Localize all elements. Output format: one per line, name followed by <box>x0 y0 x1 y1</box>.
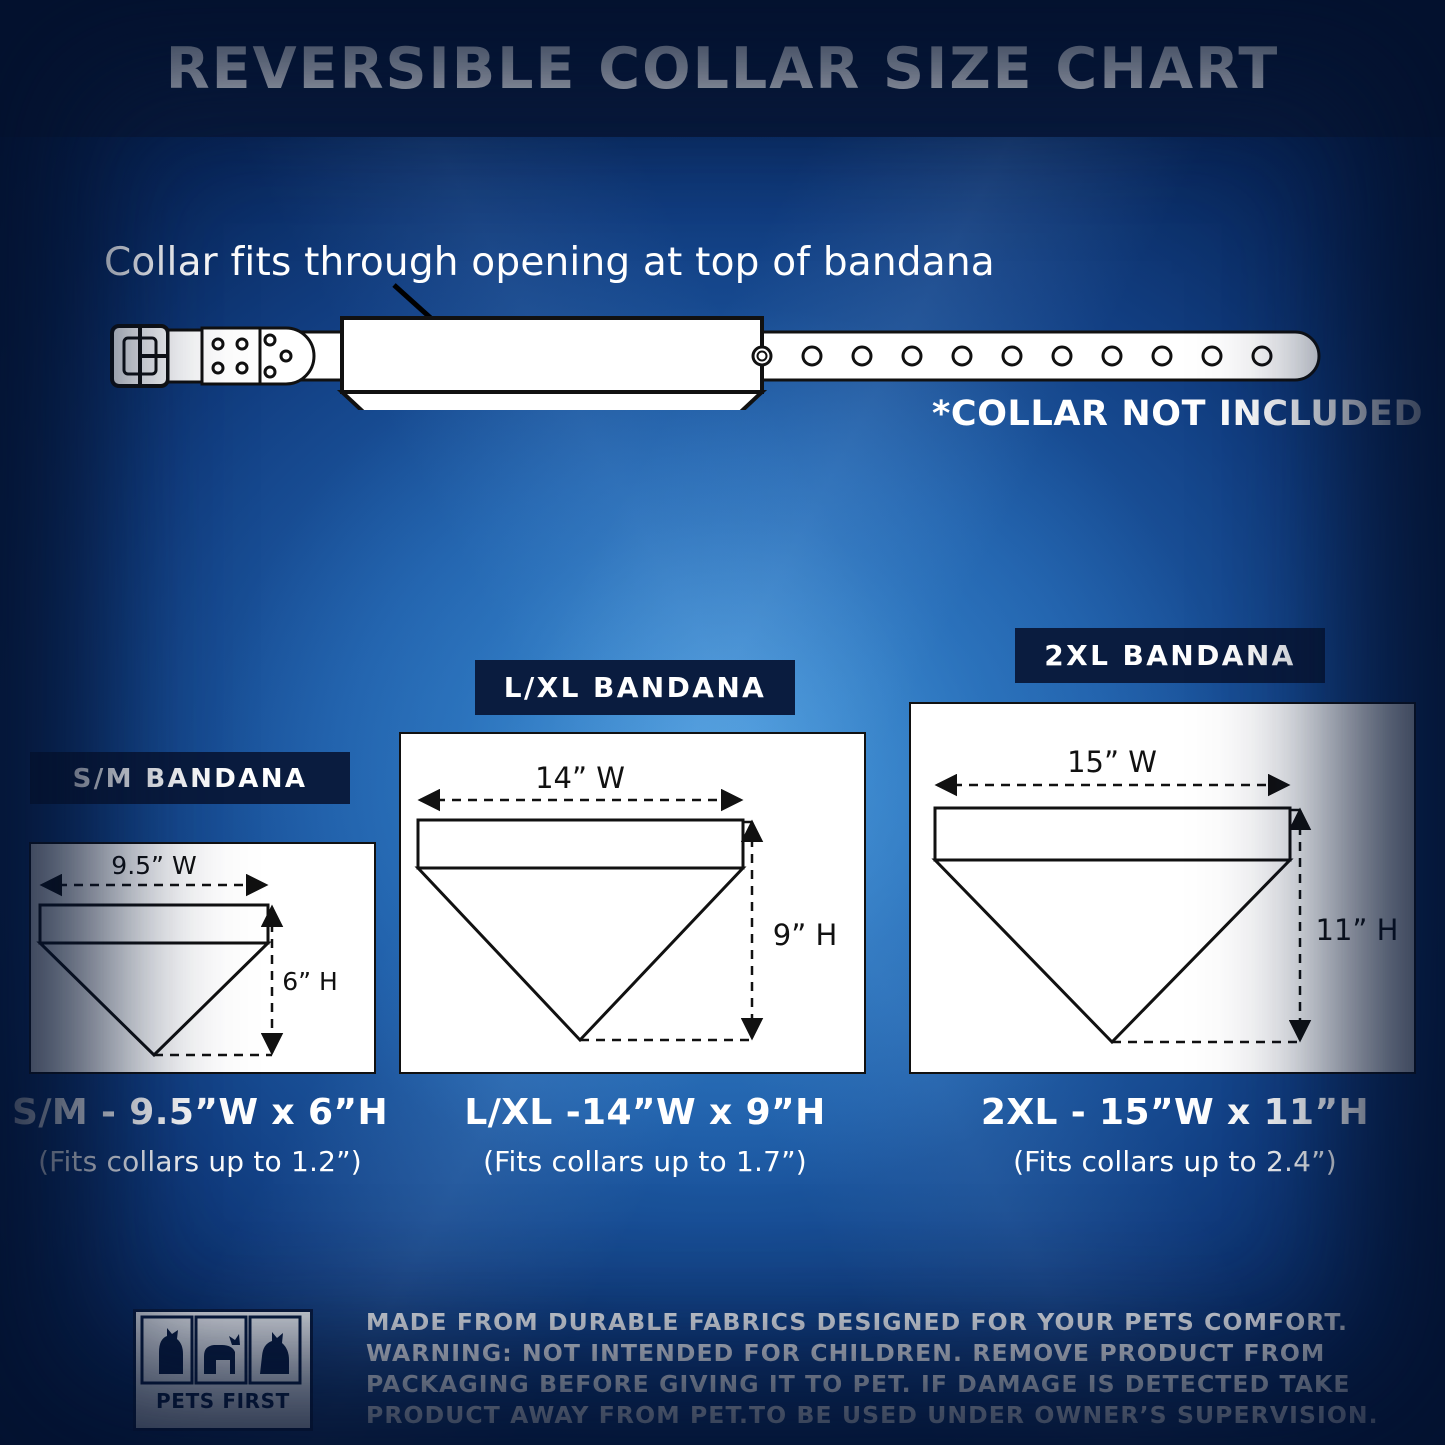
footer-line-4: PRODUCT AWAY FROM PET.TO BE USED UNDER O… <box>366 1400 1366 1431</box>
caption-2xl-sub: (Fits collars up to 2.4”) <box>940 1145 1410 1178</box>
badge-lxl: L/XL BANDANA <box>475 660 795 715</box>
panel-sm: 9.5” W 6” H <box>30 843 375 1073</box>
footer-legal-text: MADE FROM DURABLE FABRICS DESIGNED FOR Y… <box>366 1307 1366 1431</box>
pets-first-logo-icon: PETS FIRST <box>136 1312 310 1428</box>
collar-not-included-note: *COLLAR NOT INCLUDED <box>932 394 1423 434</box>
footer-line-2: WARNING: NOT INTENDED FOR CHILDREN. REMO… <box>366 1338 1366 1369</box>
caption-sm: S/M - 9.5”W x 6”H (Fits collars up to 1.… <box>8 1092 392 1178</box>
sm-width-label: 9.5” W <box>111 851 196 880</box>
caption-lxl: L/XL -14”W x 9”H (Fits collars up to 1.7… <box>420 1092 870 1178</box>
buckle-icon <box>112 326 314 386</box>
sm-height-label: 6” H <box>282 967 338 996</box>
collar-diagram <box>90 270 1360 410</box>
bandana-triangle <box>342 392 762 410</box>
page-title: REVERSIBLE COLLAR SIZE CHART <box>166 36 1280 102</box>
caption-lxl-main: L/XL -14”W x 9”H <box>420 1092 870 1133</box>
badge-sm: S/M BANDANA <box>30 752 350 804</box>
size-chart-page: REVERSIBLE COLLAR SIZE CHART Collar fits… <box>0 0 1445 1445</box>
size-panels: 9.5” W 6” H 14” W 9” H 15” W 11” H <box>0 600 1445 1100</box>
xxl-height-label: 11” H <box>1316 913 1399 947</box>
badge-2xl-label: 2XL BANDANA <box>1044 639 1296 672</box>
caption-2xl: 2XL - 15”W x 11”H (Fits collars up to 2.… <box>940 1092 1410 1178</box>
panel-lxl: 14” W 9” H <box>400 733 865 1073</box>
lxl-height-label: 9” H <box>773 918 838 952</box>
badge-lxl-label: L/XL BANDANA <box>504 671 767 704</box>
bandana-sleeve-opening <box>342 318 762 392</box>
pets-first-logo: PETS FIRST <box>133 1309 313 1431</box>
caption-lxl-sub: (Fits collars up to 1.7”) <box>420 1145 870 1178</box>
pets-first-logo-text: PETS FIRST <box>156 1389 290 1413</box>
caption-sm-main: S/M - 9.5”W x 6”H <box>8 1092 392 1133</box>
caption-sm-sub: (Fits collars up to 1.2”) <box>8 1145 392 1178</box>
footer-line-3: PACKAGING BEFORE GIVING IT TO PET. IF DA… <box>366 1369 1366 1400</box>
panel-2xl: 15” W 11” H <box>910 703 1415 1073</box>
badge-2xl: 2XL BANDANA <box>1015 628 1325 683</box>
badge-sm-label: S/M BANDANA <box>73 764 308 794</box>
header-bar: REVERSIBLE COLLAR SIZE CHART <box>0 0 1445 137</box>
lxl-width-label: 14” W <box>535 761 625 795</box>
footer-line-1: MADE FROM DURABLE FABRICS DESIGNED FOR Y… <box>366 1307 1366 1338</box>
xxl-width-label: 15” W <box>1067 745 1157 779</box>
caption-2xl-main: 2XL - 15”W x 11”H <box>940 1092 1410 1133</box>
